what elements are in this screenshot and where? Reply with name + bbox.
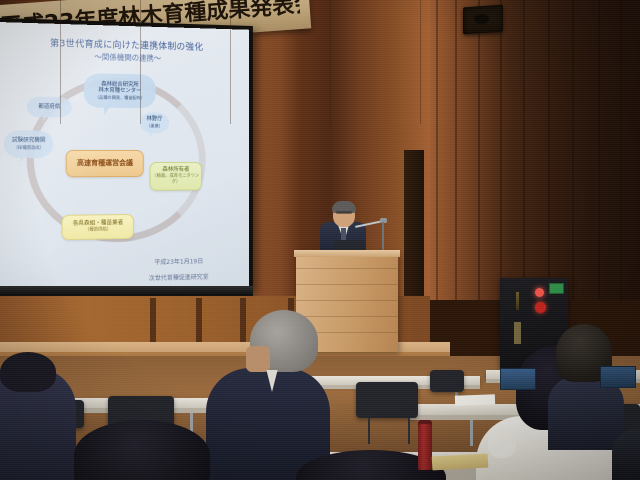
diagram-node-prefectures: 都道府県	[27, 97, 72, 118]
projection-screen-bottom-bar	[0, 286, 253, 296]
red-thermos-bottle	[418, 424, 432, 470]
audience-laptop	[500, 368, 536, 390]
floor-plank-line	[520, 0, 521, 124]
stage-wall-slat	[196, 298, 202, 342]
audience-chair[interactable]	[356, 382, 418, 418]
wall-slat	[436, 0, 438, 300]
bubble-tail	[150, 131, 154, 137]
floor-plank-line	[140, 0, 141, 124]
node-label: 都道府県	[38, 104, 60, 111]
lecture-hall-photo: 平成23年度林木育種成果発表会 第3世代育成に向けた連携体制の強化 ～関係機関の…	[0, 0, 640, 480]
node-sublabel: （連携）	[146, 123, 162, 129]
projection-screen: 第3世代育成に向けた連携体制の強化 ～関係機関の連携～ 森林総合研究所 林木育種…	[0, 22, 249, 294]
person-body	[612, 430, 640, 480]
audience-laptop	[600, 366, 636, 388]
bubble-tail	[104, 106, 111, 115]
floor-plank-line	[60, 0, 61, 124]
person-neck	[246, 346, 270, 372]
floor-plank-line	[230, 0, 231, 124]
diagram-node-forestry-agency: 林野庁 （連携）	[140, 112, 169, 133]
wall-slat	[572, 0, 574, 300]
handout-papers	[455, 394, 495, 405]
wall-slat	[548, 0, 550, 300]
exit-sign-icon	[549, 283, 564, 294]
node-sublabel: （植栽、成育モニタリング）	[151, 174, 201, 186]
wall-shadow-right	[430, 0, 640, 300]
stage-wall-slat	[240, 298, 246, 342]
diagram-node-forest-research-institute: 森林総合研究所 林木育種センター （品種の開発、種苗配布）	[84, 73, 156, 108]
speaker-cone-icon	[474, 14, 489, 24]
wall-slat	[478, 0, 480, 300]
bubble-tail	[20, 156, 25, 162]
podium-top-surface	[294, 250, 400, 257]
desk-leg	[470, 420, 473, 446]
chair-leg	[408, 418, 410, 444]
wall-slat	[500, 0, 502, 300]
diagram-node-seedling-suppliers: 各県森組・種苗業者 （種苗供給）	[62, 214, 134, 240]
floor-plank-line	[420, 0, 421, 124]
diagram-node-steering-committee: 高速育種運営会議	[66, 150, 144, 177]
cabinet-led-strip	[516, 292, 519, 310]
node-sublabel-2: （品種の開発、種苗配布）	[95, 94, 145, 100]
wall-slat	[523, 0, 525, 300]
person-hair	[0, 352, 56, 392]
microphone-stand	[382, 222, 384, 250]
diagram-node-forest-owners: 森林所有者 （植栽、成育モニタリング）	[150, 162, 202, 191]
wall-slat	[455, 0, 457, 300]
handout-papers	[432, 454, 489, 471]
slide-date: 平成23年1月19日	[120, 255, 236, 267]
diagram-node-research-institutions: 試験研究機関 （採種園造成）	[4, 130, 54, 158]
alarm-bell-icon	[535, 302, 546, 313]
chair-leg	[368, 418, 370, 444]
cabinet-handle[interactable]	[514, 322, 521, 344]
node-label: 高速育種運営会議	[77, 160, 133, 167]
node-sublabel: （採種園造成）	[13, 145, 43, 151]
node-sublabel: （種苗供給）	[85, 227, 111, 233]
slide-organization: 次世代育種促進研究室	[120, 271, 236, 283]
wall-slat	[620, 0, 622, 300]
audience-chair[interactable]	[430, 370, 464, 392]
floor-plank-line	[330, 0, 331, 124]
presenter-glasses-icon	[336, 211, 352, 214]
presentation-slide: 第3世代育成に向けた連携体制の強化 ～関係機関の連携～ 森林総合研究所 林木育種…	[0, 22, 249, 294]
stage-wall-slat	[150, 298, 156, 342]
person-arm	[488, 428, 516, 458]
bubble-tail	[43, 115, 48, 121]
wall-slat	[598, 0, 600, 300]
indicator-light-icon	[535, 288, 544, 297]
